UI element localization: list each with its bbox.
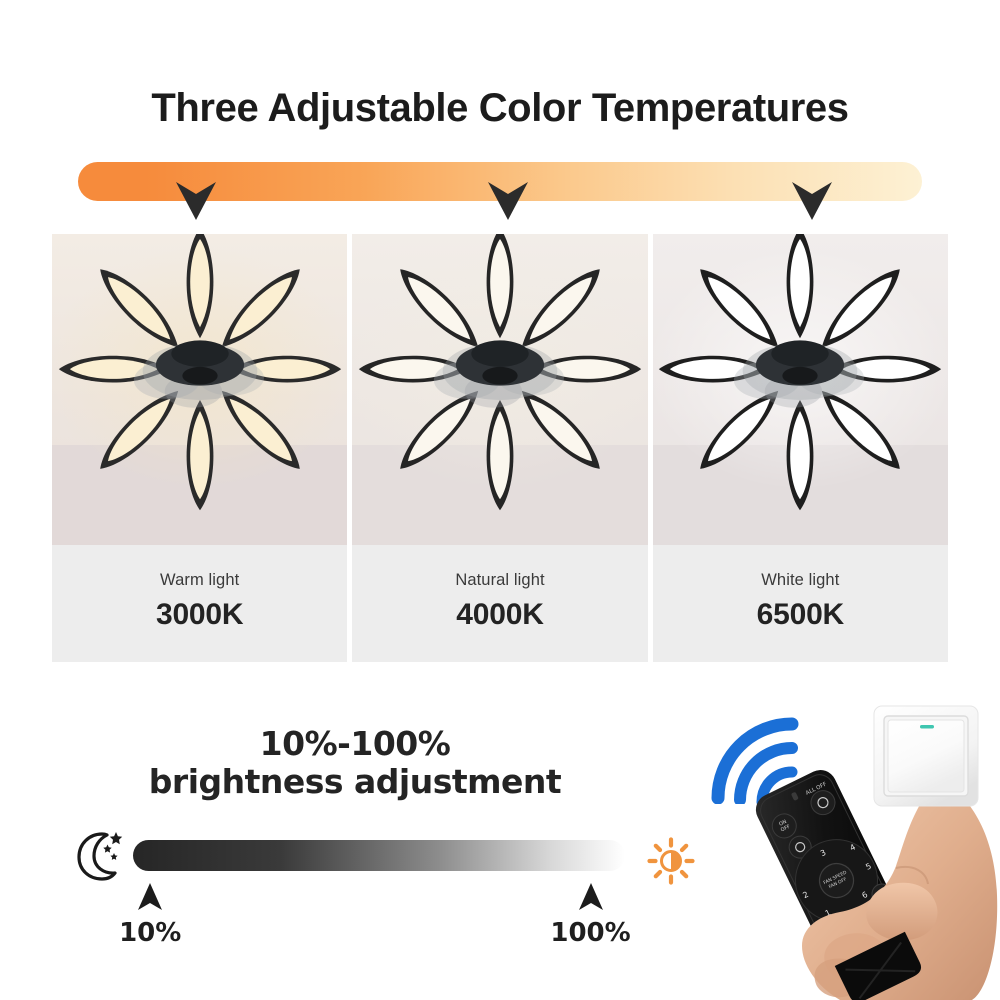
flower-ceiling-fan-lamp-icon xyxy=(653,234,948,543)
panel-kelvin-white: 6500K xyxy=(757,600,844,630)
color-temperature-marker-warm xyxy=(174,180,218,222)
brightness-heading: 10%-100% brightness adjustment xyxy=(60,725,650,800)
page-title: Three Adjustable Color Temperatures xyxy=(0,86,1000,131)
brightness-max-marker xyxy=(576,882,606,912)
panel-caption-white: White light 6500K xyxy=(653,545,948,662)
panel-natural-light: Natural light 4000K xyxy=(352,234,647,662)
brightness-min-label: 10% xyxy=(90,918,210,948)
panel-caption-warm: Warm light 3000K xyxy=(52,545,347,662)
panel-label-white: White light xyxy=(761,572,839,589)
switch-indicator xyxy=(920,725,934,729)
brightness-max-label: 100% xyxy=(531,918,651,948)
panel-kelvin-warm: 3000K xyxy=(156,600,243,630)
wall-switch[interactable] xyxy=(866,700,990,816)
brightness-adjustment-text: brightness adjustment xyxy=(60,763,650,801)
panel-kelvin-natural: 4000K xyxy=(456,600,543,630)
brightness-min-marker xyxy=(135,882,165,912)
color-temperature-marker-white xyxy=(790,180,834,222)
panel-label-natural: Natural light xyxy=(455,572,544,589)
panel-photo-natural xyxy=(352,234,647,545)
panel-photo-warm xyxy=(52,234,347,545)
brightness-range-text: 10%-100% xyxy=(60,725,650,763)
panel-photo-white xyxy=(653,234,948,545)
flower-ceiling-fan-lamp-icon xyxy=(352,234,647,543)
panel-caption-natural: Natural light 4000K xyxy=(352,545,647,662)
moon-stars-icon xyxy=(72,826,128,882)
color-temperature-marker-natural xyxy=(486,180,530,222)
color-temperature-panels: Warm light 3000K xyxy=(52,234,948,662)
brightness-gradient-bar xyxy=(133,840,625,871)
flower-ceiling-fan-lamp-icon xyxy=(52,234,347,543)
panel-label-warm: Warm light xyxy=(160,572,239,589)
product-infographic: Three Adjustable Color Temperatures xyxy=(0,0,1000,1000)
panel-warm-light: Warm light 3000K xyxy=(52,234,347,662)
brightness-sun-icon xyxy=(646,836,696,886)
panel-white-light: White light 6500K xyxy=(653,234,948,662)
